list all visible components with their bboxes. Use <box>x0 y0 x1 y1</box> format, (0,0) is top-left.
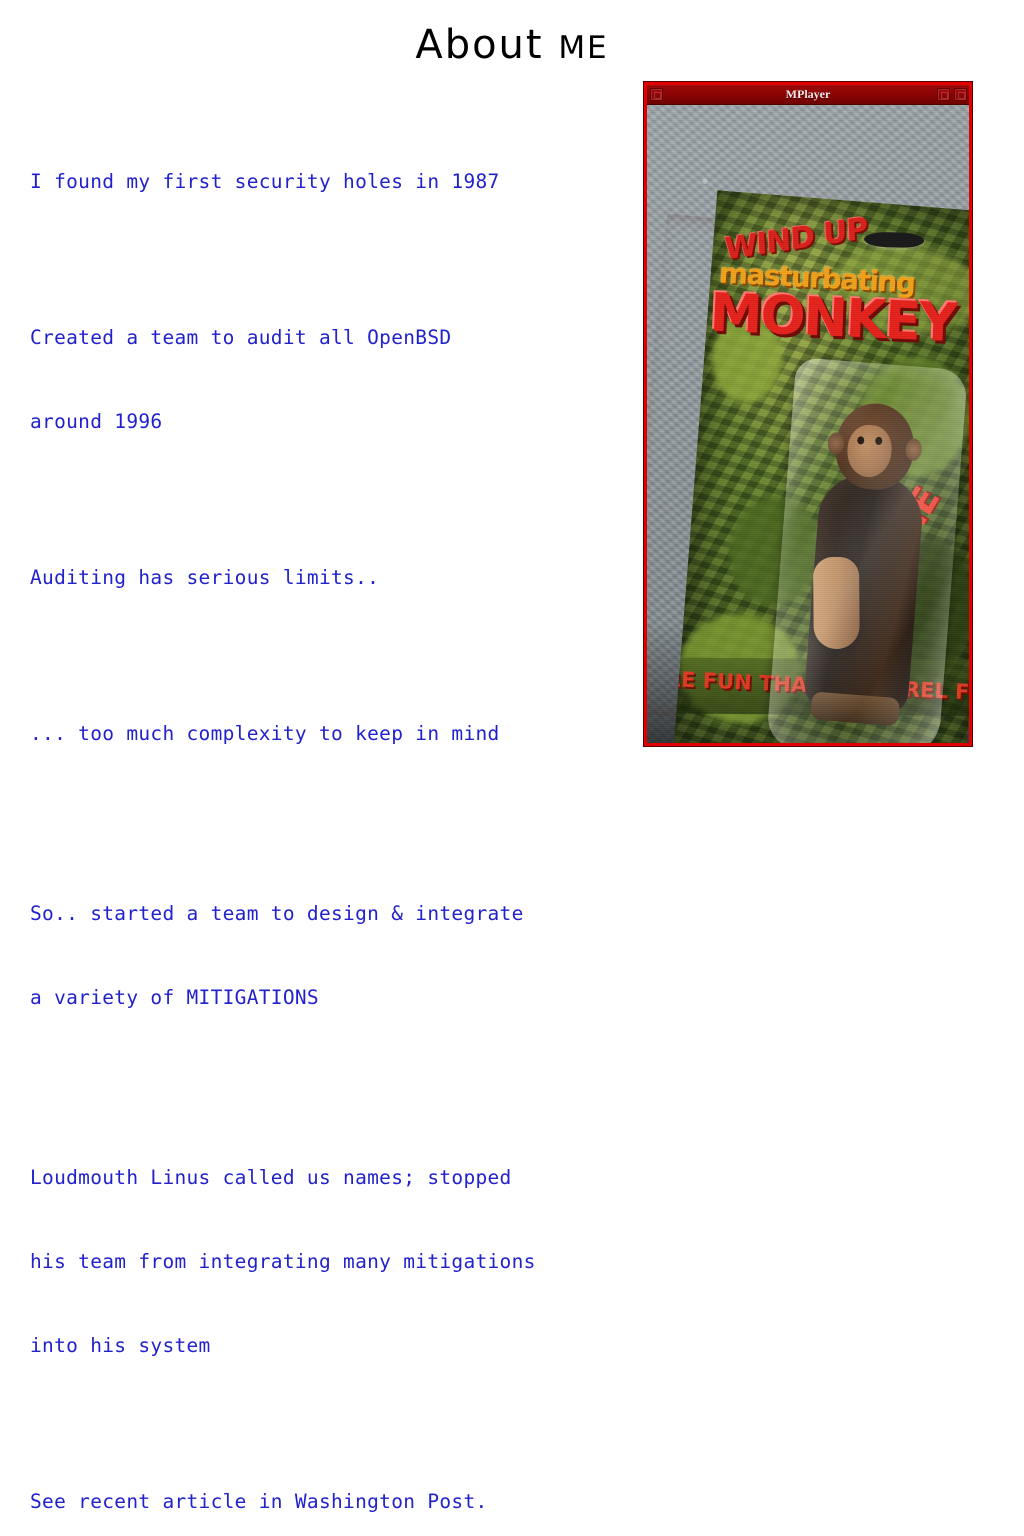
bullet-item-5: So.. started a team to design & integrat… <box>30 844 630 1068</box>
bullet-item-4: ... too much complexity to keep in mind <box>30 664 630 804</box>
bullet-line: ... too much complexity to keep in mind <box>30 720 630 748</box>
monkey-face <box>845 423 893 478</box>
bullet-line: his team from integrating many mitigatio… <box>30 1248 630 1276</box>
bullet-line: Auditing has serious limits.. <box>30 564 630 592</box>
bullet-item-2: Created a team to audit all OpenBSD arou… <box>30 268 630 492</box>
monkey-ear-left <box>827 432 845 455</box>
bullet-item-3: Auditing has serious limits.. <box>30 508 630 648</box>
bullet-item-7: See recent article in Washington Post. <box>30 1432 630 1536</box>
bullet-line: Loudmouth Linus called us names; stopped <box>30 1164 630 1192</box>
bullet-line: So.. started a team to design & integrat… <box>30 900 630 928</box>
monkey-toy-figure <box>784 384 950 734</box>
bullet-list: I found my first security holes in 1987 … <box>30 112 630 1536</box>
spacer <box>30 1068 630 1108</box>
package-product-line2: MONKEY <box>709 287 957 351</box>
page-title: About me <box>0 22 1024 68</box>
page-title-suffix: me <box>558 30 608 66</box>
window-controls <box>935 88 969 101</box>
monkey-eye-right <box>875 437 883 446</box>
bullet-line: around 1996 <box>30 408 630 436</box>
spacer <box>30 1416 630 1432</box>
bullet-line: Created a team to audit all OpenBSD <box>30 324 630 352</box>
spacer <box>30 252 630 268</box>
monkey-feet <box>810 691 900 726</box>
spacer <box>30 492 630 508</box>
window-menu-button[interactable] <box>650 88 663 101</box>
bullet-item-1: I found my first security holes in 1987 <box>30 112 630 252</box>
monkey-eye-left <box>857 436 865 445</box>
toy-blister-package: WIND UP masturbating MONKEY TRY ME <box>673 190 969 743</box>
monkey-ear-right <box>905 438 923 461</box>
spacer <box>30 804 630 844</box>
mplayer-window[interactable]: MPlayer WIND UP masturbating MONKEY <box>644 82 972 746</box>
bullet-line: into his system <box>30 1332 630 1360</box>
bullet-line: a variety of MITIGATIONS <box>30 984 630 1012</box>
bullet-line: See recent article in Washington Post. <box>30 1488 630 1516</box>
minimize-button[interactable] <box>937 88 950 101</box>
close-button[interactable] <box>954 88 967 101</box>
bullet-item-6: Loudmouth Linus called us names; stopped… <box>30 1108 630 1416</box>
monkey-arm <box>813 557 860 649</box>
mplayer-video-area[interactable]: WIND UP masturbating MONKEY TRY ME <box>647 105 969 743</box>
spacer <box>30 648 630 664</box>
mplayer-titlebar[interactable]: MPlayer <box>647 85 969 105</box>
mplayer-window-title: MPlayer <box>647 87 969 102</box>
bullet-line: I found my first security holes in 1987 <box>30 168 630 196</box>
page-title-main: About <box>415 22 558 68</box>
package-hang-hole <box>864 232 924 249</box>
